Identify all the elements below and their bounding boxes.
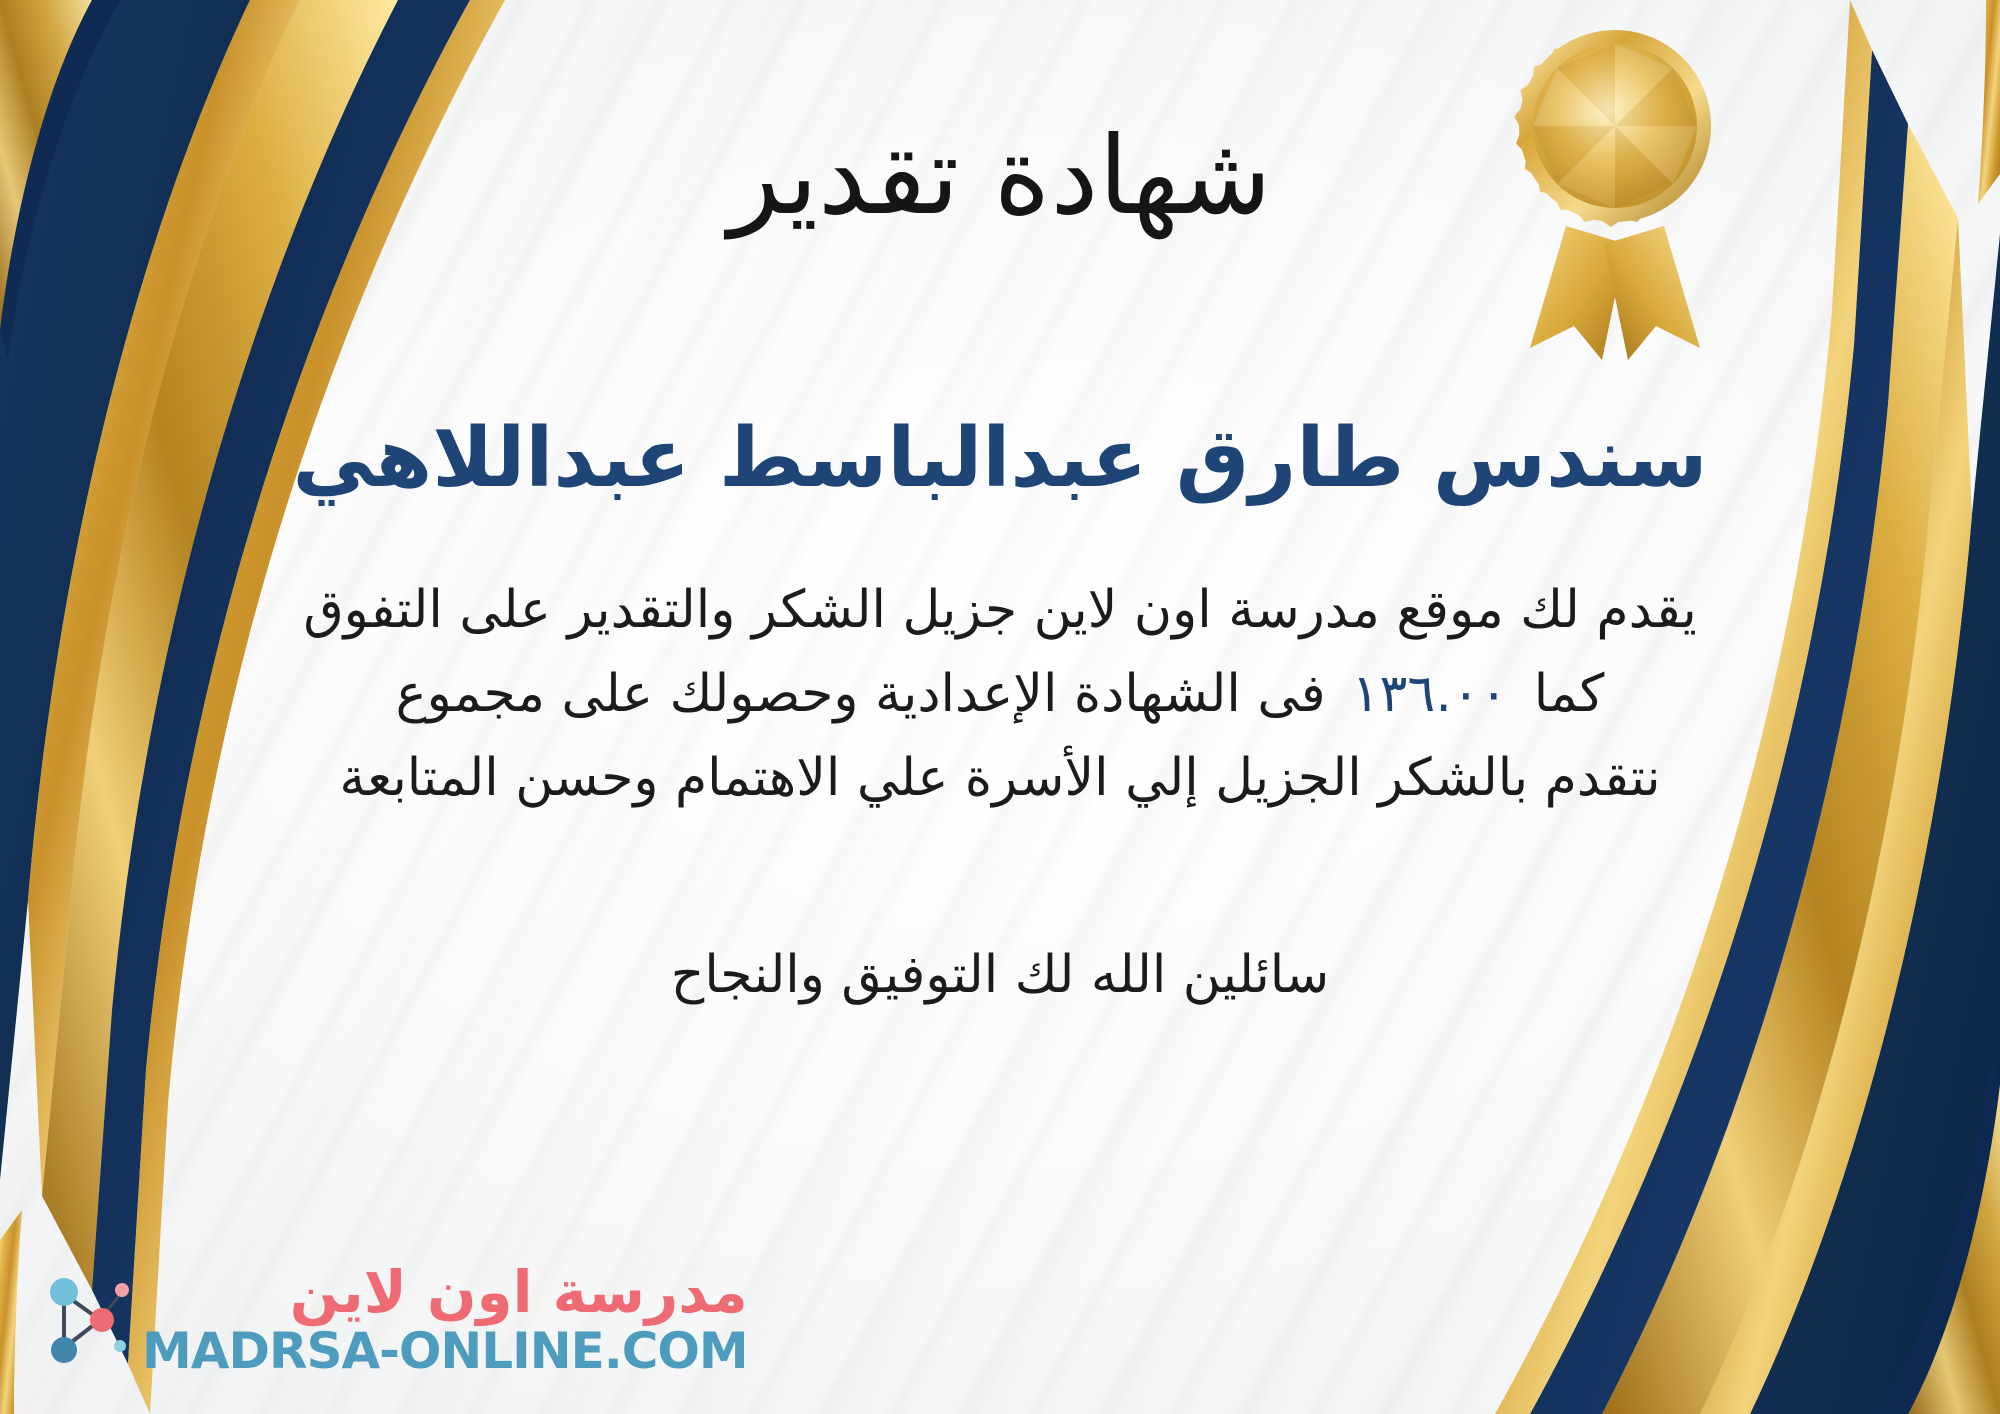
recipient-name: سندس طارق عبدالباسط عبداللاهي	[200, 407, 1800, 512]
certificate-canvas: شهادة تقدير سندس طارق عبدالباسط عبداللاه…	[0, 0, 2000, 1414]
certificate-body: يقدم لك موقع مدرسة اون لاين جزيل الشكر و…	[220, 568, 1780, 821]
brand-arabic-name: مدرسة اون لاين	[290, 1261, 748, 1324]
certificate-content: شهادة تقدير سندس طارق عبدالباسط عبداللاه…	[0, 0, 2000, 1014]
network-nodes-logo-icon	[34, 1268, 130, 1372]
body-line-2-prefix: فى الشهادة الإعدادية وحصولك على مجموع	[396, 652, 1326, 736]
body-line-2: كما ١٣٦.٠٠ فى الشهادة الإعدادية وحصولك ع…	[220, 652, 1780, 736]
brand-website-url[interactable]: MADRSA-ONLINE.COM	[142, 1324, 748, 1378]
certificate-title: شهادة تقدير	[0, 118, 2000, 237]
body-line-3: نتقدم بالشكر الجزيل إلي الأسرة علي الاهت…	[220, 736, 1780, 820]
total-score-value: ١٣٦.٠٠	[1326, 652, 1534, 736]
closing-wish: سائلين الله لك التوفيق والنجاح	[220, 936, 1780, 1014]
body-line-2-suffix: كما	[1534, 652, 1605, 736]
brand-text: مدرسة اون لاين MADRSA-ONLINE.COM	[142, 1261, 748, 1378]
brand-logo[interactable]: مدرسة اون لاين MADRSA-ONLINE.COM	[34, 1261, 748, 1378]
body-line-1: يقدم لك موقع مدرسة اون لاين جزيل الشكر و…	[220, 568, 1780, 652]
